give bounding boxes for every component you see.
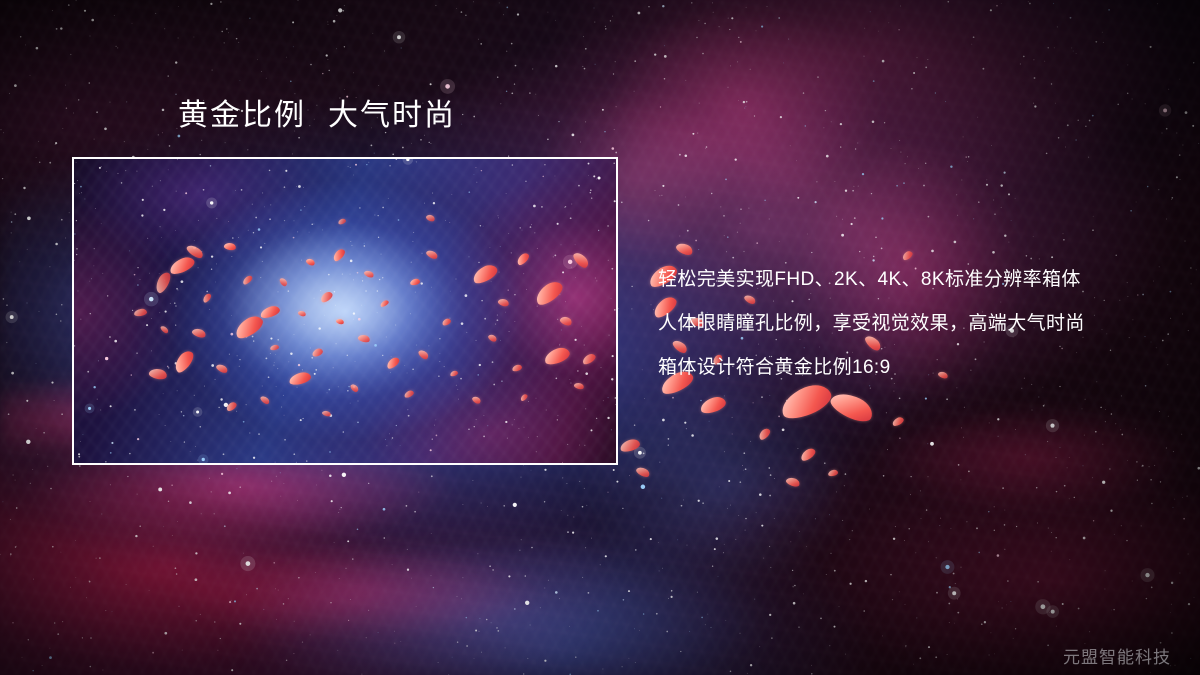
presentation-slide: 黄金比例大气时尚 轻松完美实现FHD、2K、4K、8K标准分辨率箱体 人体眼睛瞳…: [0, 0, 1200, 675]
flower-petal: [785, 476, 801, 488]
flower-petal: [891, 416, 905, 428]
flower-petal: [635, 465, 651, 479]
slide-title-part-1: 黄金比例: [178, 99, 306, 132]
flower-petal: [827, 387, 876, 426]
panel-image: [74, 159, 616, 463]
body-line-2: 人体眼睛瞳孔比例，享受视觉效果，高端大气时尚: [658, 302, 1158, 346]
flower-petal: [619, 437, 641, 453]
slide-title: 黄金比例大气时尚: [178, 101, 456, 131]
flower-petal: [675, 241, 695, 257]
framed-image-panel[interactable]: [72, 157, 618, 465]
flower-petal: [698, 394, 727, 415]
body-line-1: 轻松完美实现FHD、2K、4K、8K标准分辨率箱体: [658, 258, 1158, 302]
flower-petal: [799, 446, 817, 462]
flower-petal: [827, 469, 838, 477]
slide-title-part-2: 大气时尚: [328, 99, 456, 132]
watermark-text: 元盟智能科技: [1063, 648, 1171, 668]
flower-petal: [757, 427, 772, 442]
body-line-3: 箱体设计符合黄金比例16:9: [658, 346, 1158, 390]
body-text-block: 轻松完美实现FHD、2K、4K、8K标准分辨率箱体 人体眼睛瞳孔比例，享受视觉效…: [658, 258, 1158, 390]
panel-core-glow: [74, 159, 616, 463]
